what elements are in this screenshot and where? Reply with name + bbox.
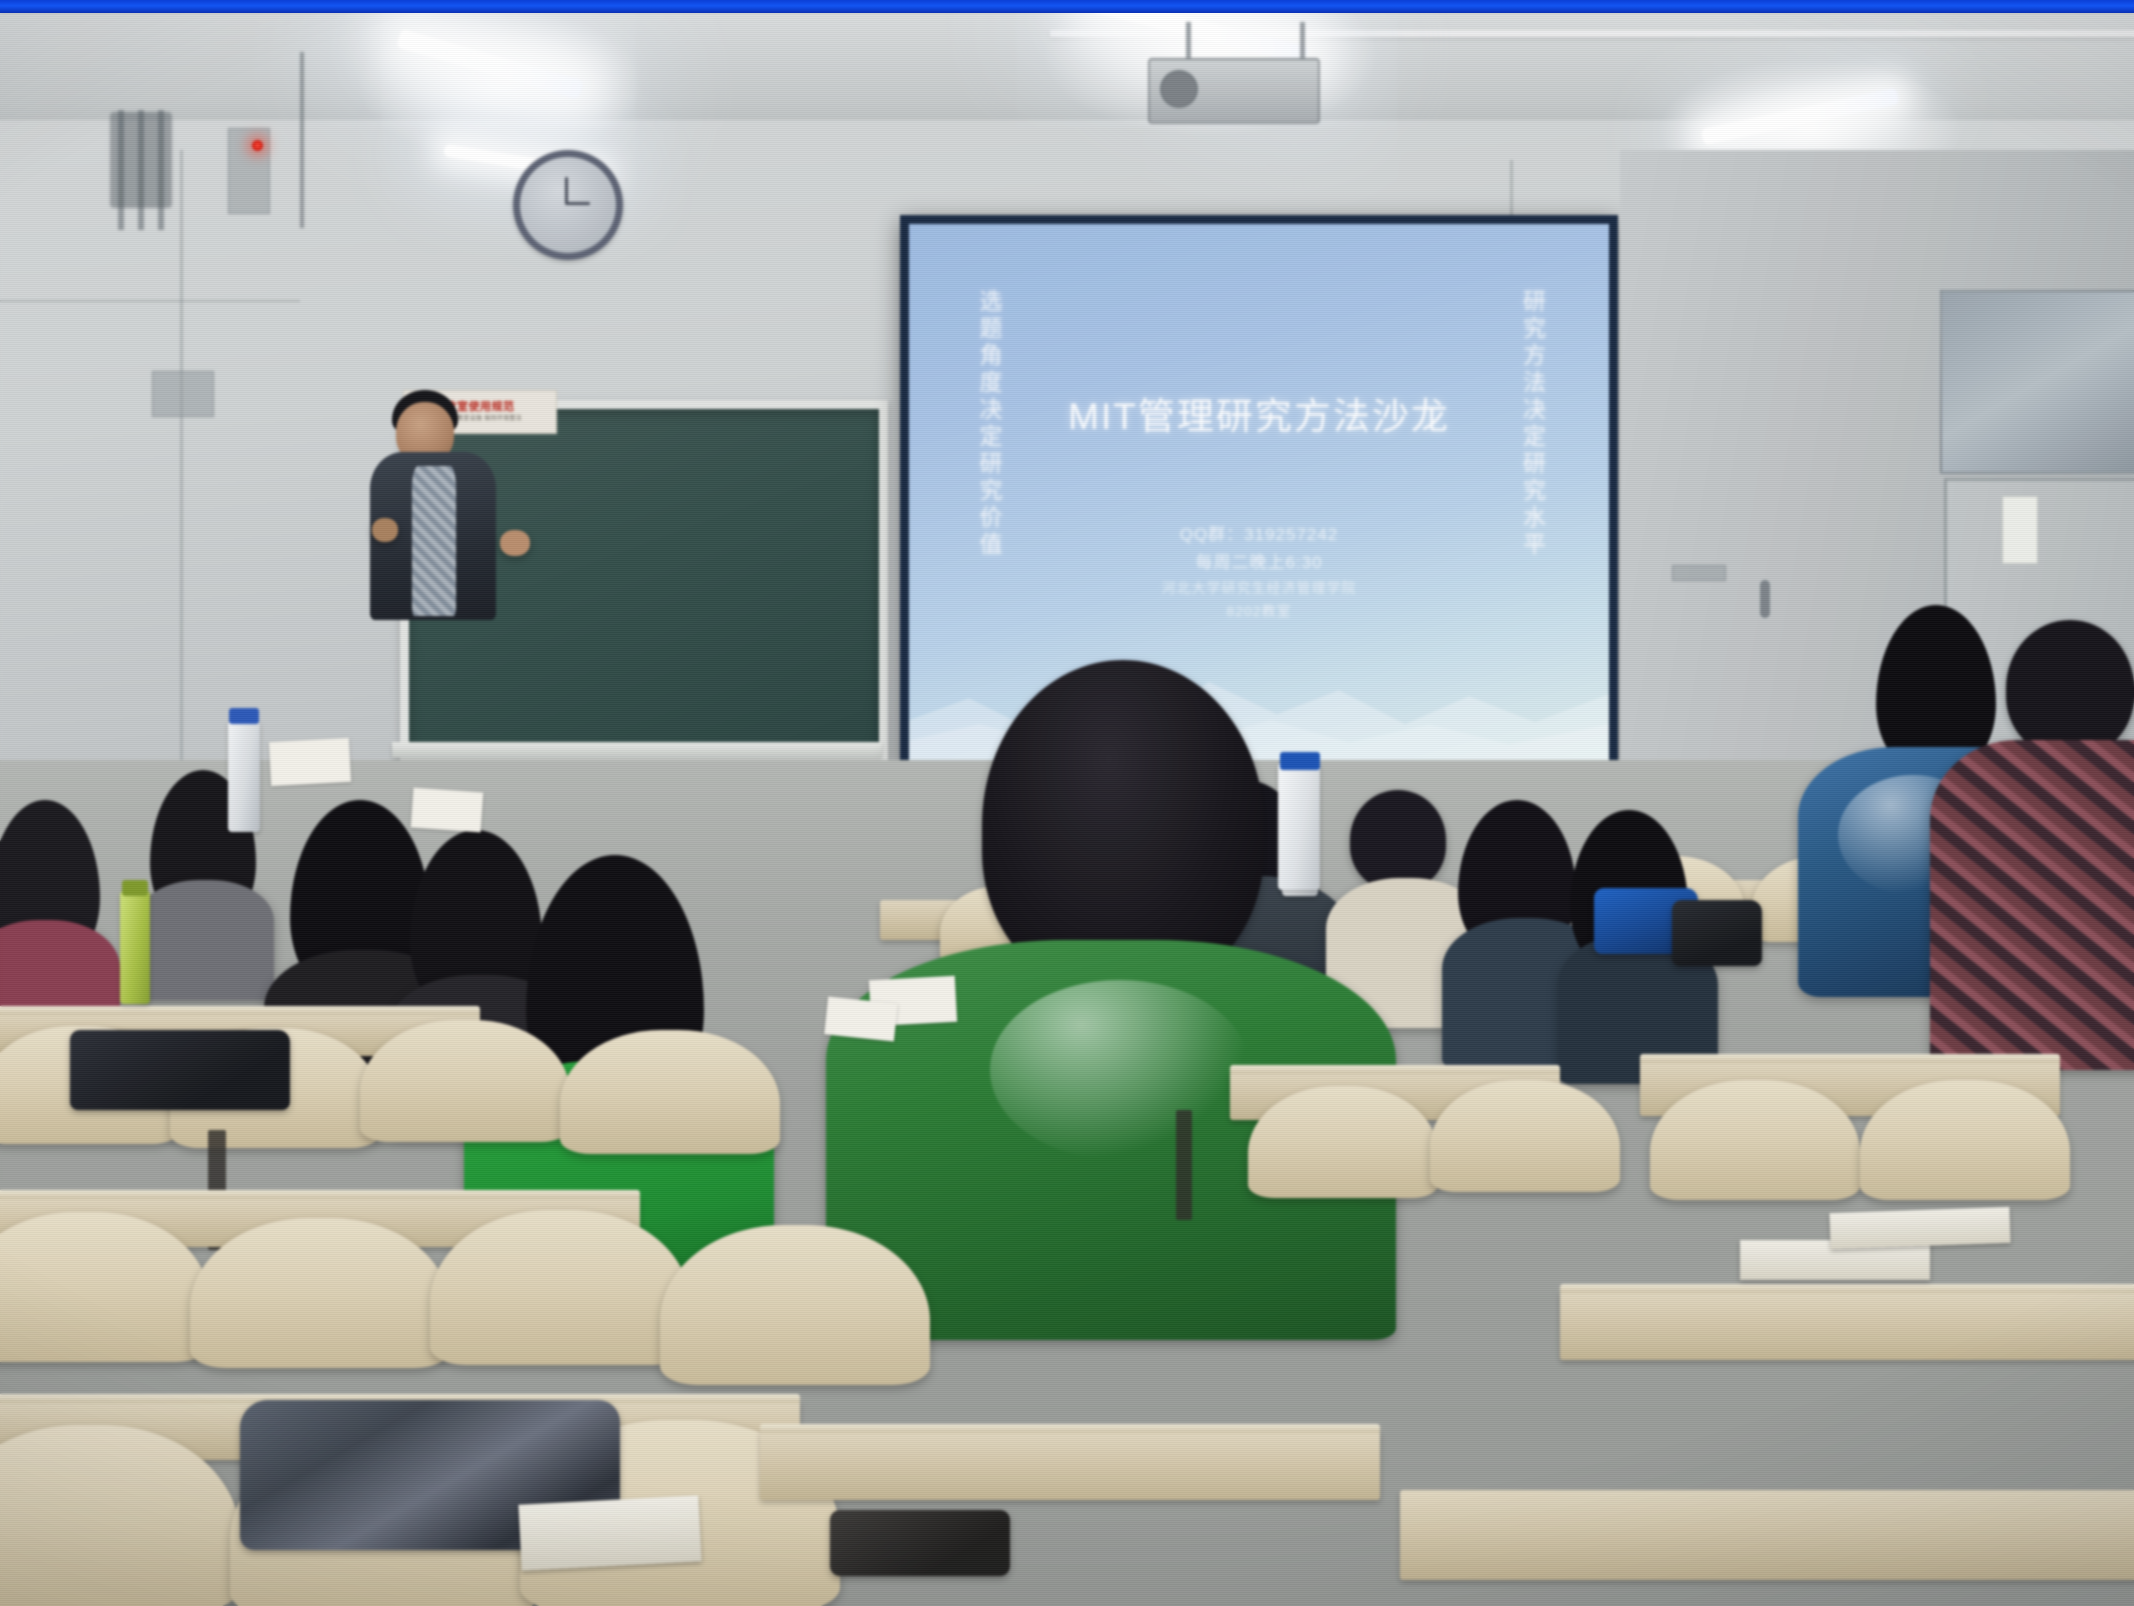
- seat[interactable]: [560, 1030, 780, 1154]
- student-body: [136, 880, 274, 1000]
- conduit-pipe: [300, 52, 304, 228]
- presenter: [370, 390, 560, 620]
- wall-speaker: [110, 112, 172, 208]
- desk-edge: [1640, 1054, 2060, 1063]
- door-handle[interactable]: [1760, 580, 1770, 618]
- desk: [1400, 1490, 2134, 1580]
- wall-switch-box: [228, 128, 270, 214]
- book: [1829, 1207, 2010, 1249]
- desk: [1560, 1290, 2134, 1360]
- water-bottle: [1278, 762, 1320, 890]
- wall-clock: [513, 150, 623, 260]
- chalk-rail: [392, 742, 882, 758]
- wall-seam: [0, 300, 300, 302]
- bottle-cap: [229, 708, 259, 724]
- seat[interactable]: [1650, 1080, 1860, 1200]
- pencil-case: [830, 1510, 1010, 1576]
- slide-title: MIT管理研究方法沙龙: [909, 386, 1609, 440]
- paper-sheet: [824, 996, 898, 1041]
- slide-detail-lines: QQ群：319257242 每周二晚上6:30 河北大学研究生经济管理学院 82…: [909, 521, 1609, 623]
- wall-seam: [180, 150, 183, 770]
- paper-sheet: [269, 738, 351, 786]
- projector-lens: [1160, 70, 1198, 108]
- seat[interactable]: [1860, 1080, 2070, 1200]
- notebook: [518, 1495, 701, 1570]
- bottle-cap: [1280, 752, 1320, 770]
- slide-org-line: 河北大学研究生经济管理学院: [909, 577, 1609, 600]
- water-bottle: [120, 890, 150, 1004]
- presenter-shirt: [412, 466, 456, 616]
- bottle-cap: [122, 880, 148, 896]
- presenter-hand-right: [500, 530, 530, 556]
- desk-edge: [760, 1424, 1380, 1433]
- presenter-hand-left: [372, 518, 398, 542]
- wall-label-plate: [1672, 565, 1726, 581]
- backpack: [1672, 900, 1762, 966]
- seat[interactable]: [360, 1020, 570, 1142]
- desk-edge: [0, 1006, 480, 1015]
- projection-screen-frame: 选题角度决定研究价值 研究方法决定研究水平 MIT管理研究方法沙龙 QQ群：31…: [900, 215, 1618, 773]
- student-head: [1350, 790, 1446, 890]
- presenter-arm-right: [466, 476, 506, 586]
- slide-time-line: 每周二晚上6:30: [909, 549, 1609, 577]
- water-bottle: [228, 720, 260, 832]
- transom-window: [1940, 290, 2134, 474]
- projection-screen: 选题角度决定研究价值 研究方法决定研究水平 MIT管理研究方法沙龙 QQ群：31…: [909, 224, 1609, 764]
- bag-on-desk: [70, 1030, 290, 1110]
- seat[interactable]: [1248, 1086, 1438, 1198]
- slide-room-line: 8202教室: [909, 600, 1609, 623]
- seat[interactable]: [1430, 1080, 1620, 1192]
- capture-bar: [0, 0, 2134, 13]
- desk-edge: [0, 1190, 640, 1199]
- classroom-photo: 教室使用规范 请爱护教室设施 保持环境整洁 选题角度决定研究价值 研究方法决定研…: [0, 0, 2134, 1606]
- desk-edge: [1560, 1284, 2134, 1293]
- paper-sheet: [411, 788, 484, 833]
- student-head: [2006, 620, 2134, 756]
- slide-qq-line: QQ群：319257242: [909, 521, 1609, 549]
- desk-leg: [1176, 1110, 1192, 1220]
- door-notice: [2002, 496, 2038, 564]
- desk-row: [760, 1430, 1380, 1500]
- student-body: [1930, 740, 2134, 1070]
- wall-outlet: [152, 371, 214, 417]
- status-led: [252, 140, 263, 151]
- desk-edge: [1230, 1065, 1560, 1074]
